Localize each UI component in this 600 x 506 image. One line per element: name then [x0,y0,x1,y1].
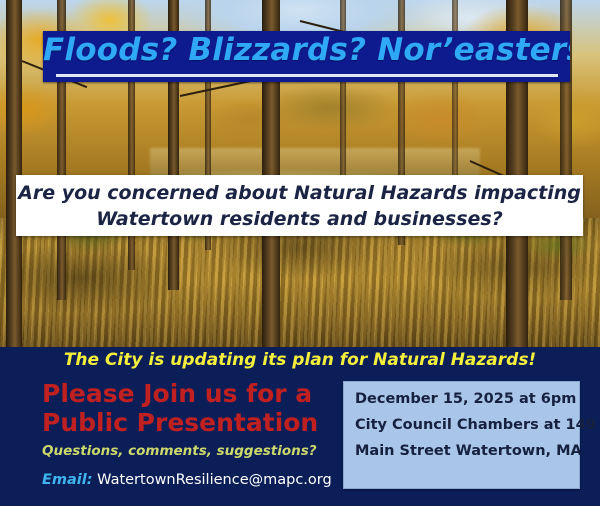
join-invitation-heading: Please Join us for a Public Presentation [42,379,332,437]
event-detail-line: City Council Chambers at 149 [355,417,573,433]
bottom-info-band: The City is updating its plan for Natura… [0,347,600,506]
flyer-poster: Floods? Blizzards? Nor’easters? Are you … [0,0,600,506]
headline-text: Floods? Blizzards? Nor’easters? [43,32,570,68]
autumn-forest-photo: Floods? Blizzards? Nor’easters? Are you … [0,0,600,348]
concern-question-text: Are you concerned about Natural Hazards … [16,180,583,232]
questions-prompt-text: Questions, comments, suggestions? [42,443,342,459]
event-detail-line: December 15, 2025 at 6pm [355,391,573,407]
city-updating-plan-text: The City is updating its plan for Natura… [0,350,600,370]
event-details-box: December 15, 2025 at 6pm City Council Ch… [343,381,580,489]
email-row: Email: WatertownResilience@mapc.org [42,472,372,488]
email-label: Email: [42,472,93,488]
banner-underline-rule [56,74,558,77]
headline-banner: Floods? Blizzards? Nor’easters? [43,31,570,82]
tree-trunk [6,0,22,348]
email-address[interactable]: WatertownResilience@mapc.org [97,472,332,488]
event-detail-line: Main Street Watertown, MA [355,443,573,459]
concern-question-box: Are you concerned about Natural Hazards … [16,175,583,236]
